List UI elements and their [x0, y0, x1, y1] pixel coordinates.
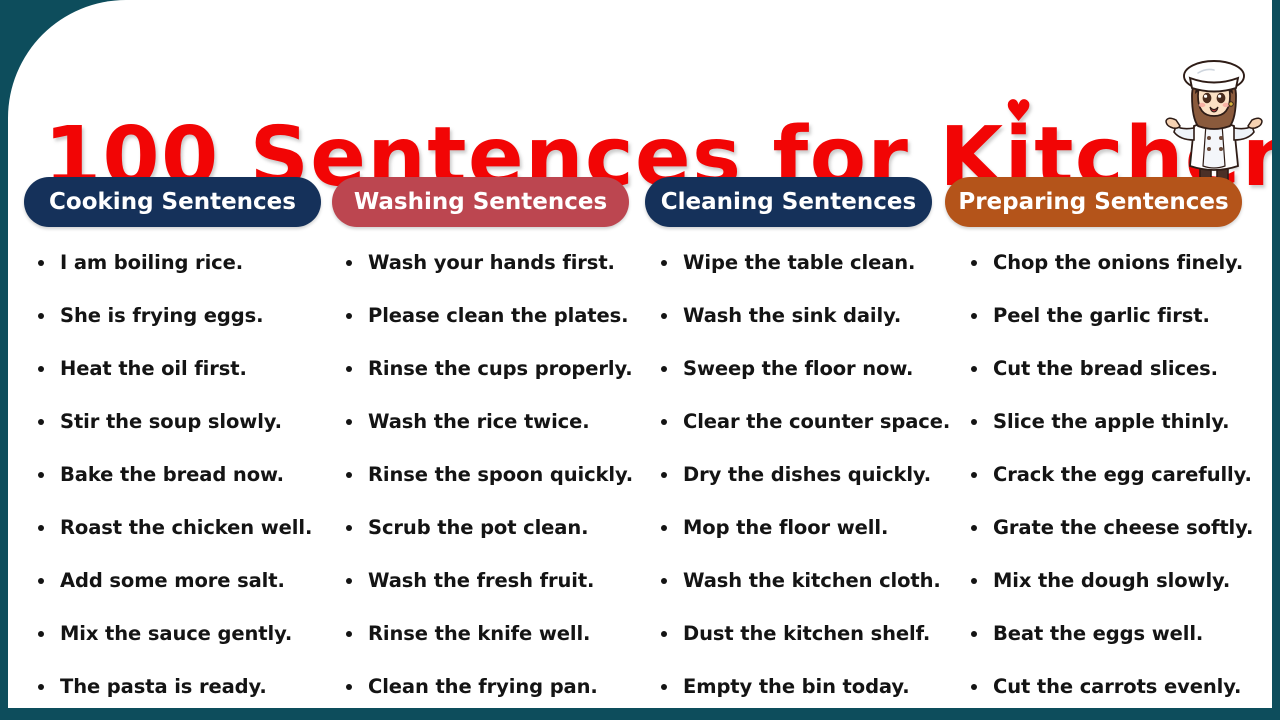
heart-icon: ♥: [1005, 97, 1033, 127]
list-item: Cut the carrots evenly.: [963, 660, 1268, 708]
sentence-text: Rinse the cups properly.: [368, 357, 633, 380]
bullet-icon: [346, 525, 352, 531]
list-item: Mop the floor well.: [653, 501, 953, 554]
bullet-icon: [971, 684, 977, 690]
list-item: Wash the sink daily.: [653, 289, 953, 342]
sentence-text: Dust the kitchen shelf.: [683, 622, 930, 645]
list-item: Rinse the knife well.: [338, 607, 640, 660]
white-card: 100 Sentences for K♥itchen: [8, 0, 1272, 708]
list-item: Wash the kitchen cloth.: [653, 554, 953, 607]
bullet-icon: [971, 578, 977, 584]
bullet-icon: [346, 313, 352, 319]
bullet-icon: [971, 525, 977, 531]
bullet-icon: [346, 631, 352, 637]
list-item: Sweep the floor now.: [653, 342, 953, 395]
bullet-icon: [661, 578, 667, 584]
list-item: I am boiling rice.: [30, 236, 330, 289]
list-item: Heat the oil first.: [30, 342, 330, 395]
sentence-text: Bake the bread now.: [60, 463, 284, 486]
sentence-text: I am boiling rice.: [60, 251, 243, 274]
sentence-text: Crack the egg carefully.: [993, 463, 1252, 486]
sentence-column-cooking: I am boiling rice. She is frying eggs. H…: [30, 236, 330, 704]
list-item: The pasta is ready.: [30, 660, 330, 708]
sentence-text: Dry the dishes quickly.: [683, 463, 931, 486]
list-item: Peel the garlic first.: [963, 289, 1268, 342]
bullet-icon: [38, 525, 44, 531]
sentence-text: Rinse the spoon quickly.: [368, 463, 633, 486]
bullet-icon: [661, 684, 667, 690]
sentence-text: Wash the sink daily.: [683, 304, 901, 327]
category-pill-label: Cleaning Sentences: [661, 189, 916, 215]
list-item: Clear the counter space.: [653, 395, 953, 448]
category-pill-preparing[interactable]: Preparing Sentences: [945, 177, 1242, 227]
list-item: Wash your hands first.: [338, 236, 640, 289]
sentence-text: Empty the bin today.: [683, 675, 910, 698]
list-item: Mix the dough slowly.: [963, 554, 1268, 607]
sentence-text: Add some more salt.: [60, 569, 285, 592]
list-item: Grate the cheese softly.: [963, 501, 1268, 554]
bullet-icon: [661, 366, 667, 372]
bullet-icon: [661, 313, 667, 319]
bullet-icon: [971, 260, 977, 266]
bullet-icon: [346, 684, 352, 690]
bullet-icon: [971, 472, 977, 478]
sentence-text: Rinse the knife well.: [368, 622, 590, 645]
sentence-text: Slice the apple thinly.: [993, 410, 1229, 433]
list-item: Slice the apple thinly.: [963, 395, 1268, 448]
list-item: Dust the kitchen shelf.: [653, 607, 953, 660]
list-item: Scrub the pot clean.: [338, 501, 640, 554]
bullet-icon: [38, 472, 44, 478]
list-item: Clean the frying pan.: [338, 660, 640, 708]
list-item: Please clean the plates.: [338, 289, 640, 342]
bullet-icon: [38, 631, 44, 637]
sentence-text: Cut the bread slices.: [993, 357, 1218, 380]
category-pill-washing[interactable]: Washing Sentences: [332, 177, 629, 227]
list-item: Mix the sauce gently.: [30, 607, 330, 660]
list-item: Dry the dishes quickly.: [653, 448, 953, 501]
bullet-icon: [971, 631, 977, 637]
sentence-text: Mix the sauce gently.: [60, 622, 292, 645]
bullet-icon: [38, 419, 44, 425]
sentence-columns: I am boiling rice. She is frying eggs. H…: [8, 236, 1272, 704]
sentence-text: Stir the soup slowly.: [60, 410, 282, 433]
category-pill-cleaning[interactable]: Cleaning Sentences: [645, 177, 932, 227]
category-pill-label: Cooking Sentences: [49, 189, 296, 215]
sentence-text: Peel the garlic first.: [993, 304, 1210, 327]
list-item: Beat the eggs well.: [963, 607, 1268, 660]
sentence-text: Clean the frying pan.: [368, 675, 598, 698]
bullet-icon: [661, 525, 667, 531]
sentence-text: Wash the fresh fruit.: [368, 569, 594, 592]
sentence-text: Heat the oil first.: [60, 357, 247, 380]
list-item: Chop the onions finely.: [963, 236, 1268, 289]
sentence-text: Clear the counter space.: [683, 410, 950, 433]
sentence-text: Beat the eggs well.: [993, 622, 1203, 645]
list-item: Cut the bread slices.: [963, 342, 1268, 395]
sentence-text: Sweep the floor now.: [683, 357, 913, 380]
sentence-column-cleaning: Wipe the table clean. Wash the sink dail…: [653, 236, 953, 704]
list-item: Add some more salt.: [30, 554, 330, 607]
bullet-icon: [346, 260, 352, 266]
sentence-text: The pasta is ready.: [60, 675, 267, 698]
sentence-text: Grate the cheese softly.: [993, 516, 1253, 539]
sentence-text: Mop the floor well.: [683, 516, 888, 539]
list-item: Wash the fresh fruit.: [338, 554, 640, 607]
bullet-icon: [661, 260, 667, 266]
list-item: Wipe the table clean.: [653, 236, 953, 289]
title-row: 100 Sentences for K♥itchen: [8, 44, 1272, 164]
sentence-text: Roast the chicken well.: [60, 516, 312, 539]
bullet-icon: [38, 578, 44, 584]
category-pill-label: Washing Sentences: [354, 189, 607, 215]
bullet-icon: [346, 578, 352, 584]
category-pill-cooking[interactable]: Cooking Sentences: [24, 177, 321, 227]
bullet-icon: [38, 313, 44, 319]
list-item: Empty the bin today.: [653, 660, 953, 708]
bullet-icon: [346, 472, 352, 478]
list-item: Wash the rice twice.: [338, 395, 640, 448]
bullet-icon: [971, 419, 977, 425]
sentence-text: Mix the dough slowly.: [993, 569, 1230, 592]
bullet-icon: [661, 419, 667, 425]
sentence-text: Cut the carrots evenly.: [993, 675, 1241, 698]
sentence-text: She is frying eggs.: [60, 304, 263, 327]
list-item: Rinse the cups properly.: [338, 342, 640, 395]
bullet-icon: [971, 313, 977, 319]
sentence-text: Wash the kitchen cloth.: [683, 569, 941, 592]
list-item: Rinse the spoon quickly.: [338, 448, 640, 501]
list-item: She is frying eggs.: [30, 289, 330, 342]
sentence-text: Please clean the plates.: [368, 304, 628, 327]
sentence-text: Wash the rice twice.: [368, 410, 590, 433]
sentence-text: Wipe the table clean.: [683, 251, 915, 274]
bullet-icon: [38, 366, 44, 372]
bullet-icon: [38, 260, 44, 266]
bullet-icon: [971, 366, 977, 372]
bullet-icon: [346, 366, 352, 372]
sentence-text: Scrub the pot clean.: [368, 516, 588, 539]
category-pill-label: Preparing Sentences: [958, 189, 1228, 215]
list-item: Crack the egg carefully.: [963, 448, 1268, 501]
list-item: Roast the chicken well.: [30, 501, 330, 554]
bullet-icon: [38, 684, 44, 690]
sentence-text: Chop the onions finely.: [993, 251, 1243, 274]
list-item: Stir the soup slowly.: [30, 395, 330, 448]
list-item: Bake the bread now.: [30, 448, 330, 501]
sentence-column-preparing: Chop the onions finely. Peel the garlic …: [963, 236, 1268, 704]
bullet-icon: [661, 631, 667, 637]
sentence-text: Wash your hands first.: [368, 251, 615, 274]
sentence-column-washing: Wash your hands first. Please clean the …: [338, 236, 640, 704]
category-pill-row: Cooking Sentences Washing Sentences Clea…: [8, 177, 1272, 229]
bullet-icon: [346, 419, 352, 425]
bullet-icon: [661, 472, 667, 478]
poster-root: 100 Sentences for K♥itchen: [0, 0, 1280, 720]
